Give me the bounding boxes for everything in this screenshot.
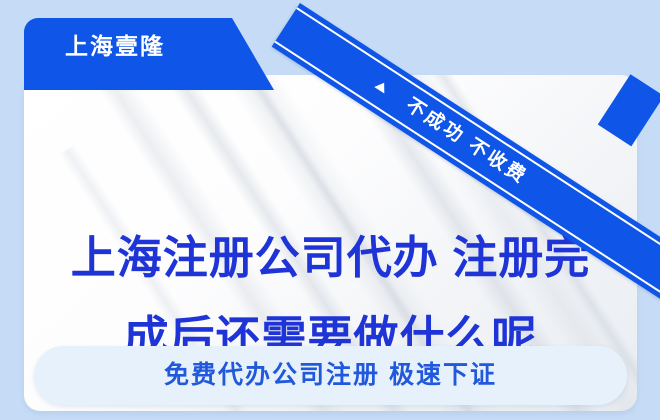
triangle-up-icon [374, 79, 389, 93]
page-title-line-1: 上海注册公司代办 注册完 [71, 232, 591, 283]
cta-banner[interactable]: 免费代办公司注册 极速下证 [34, 346, 627, 405]
content-card: 上海注册公司代办 注册完 成后还需要做什么呢 免费代办公司注册 极速下证 [24, 75, 637, 411]
cta-banner-label: 免费代办公司注册 极速下证 [34, 346, 627, 405]
brand-tab[interactable]: 上海壹隆 [24, 18, 274, 90]
poster-banner: 上海注册公司代办 注册完 成后还需要做什么呢 免费代办公司注册 极速下证 上海壹… [0, 0, 660, 420]
brand-tab-label: 上海壹隆 [65, 31, 165, 61]
